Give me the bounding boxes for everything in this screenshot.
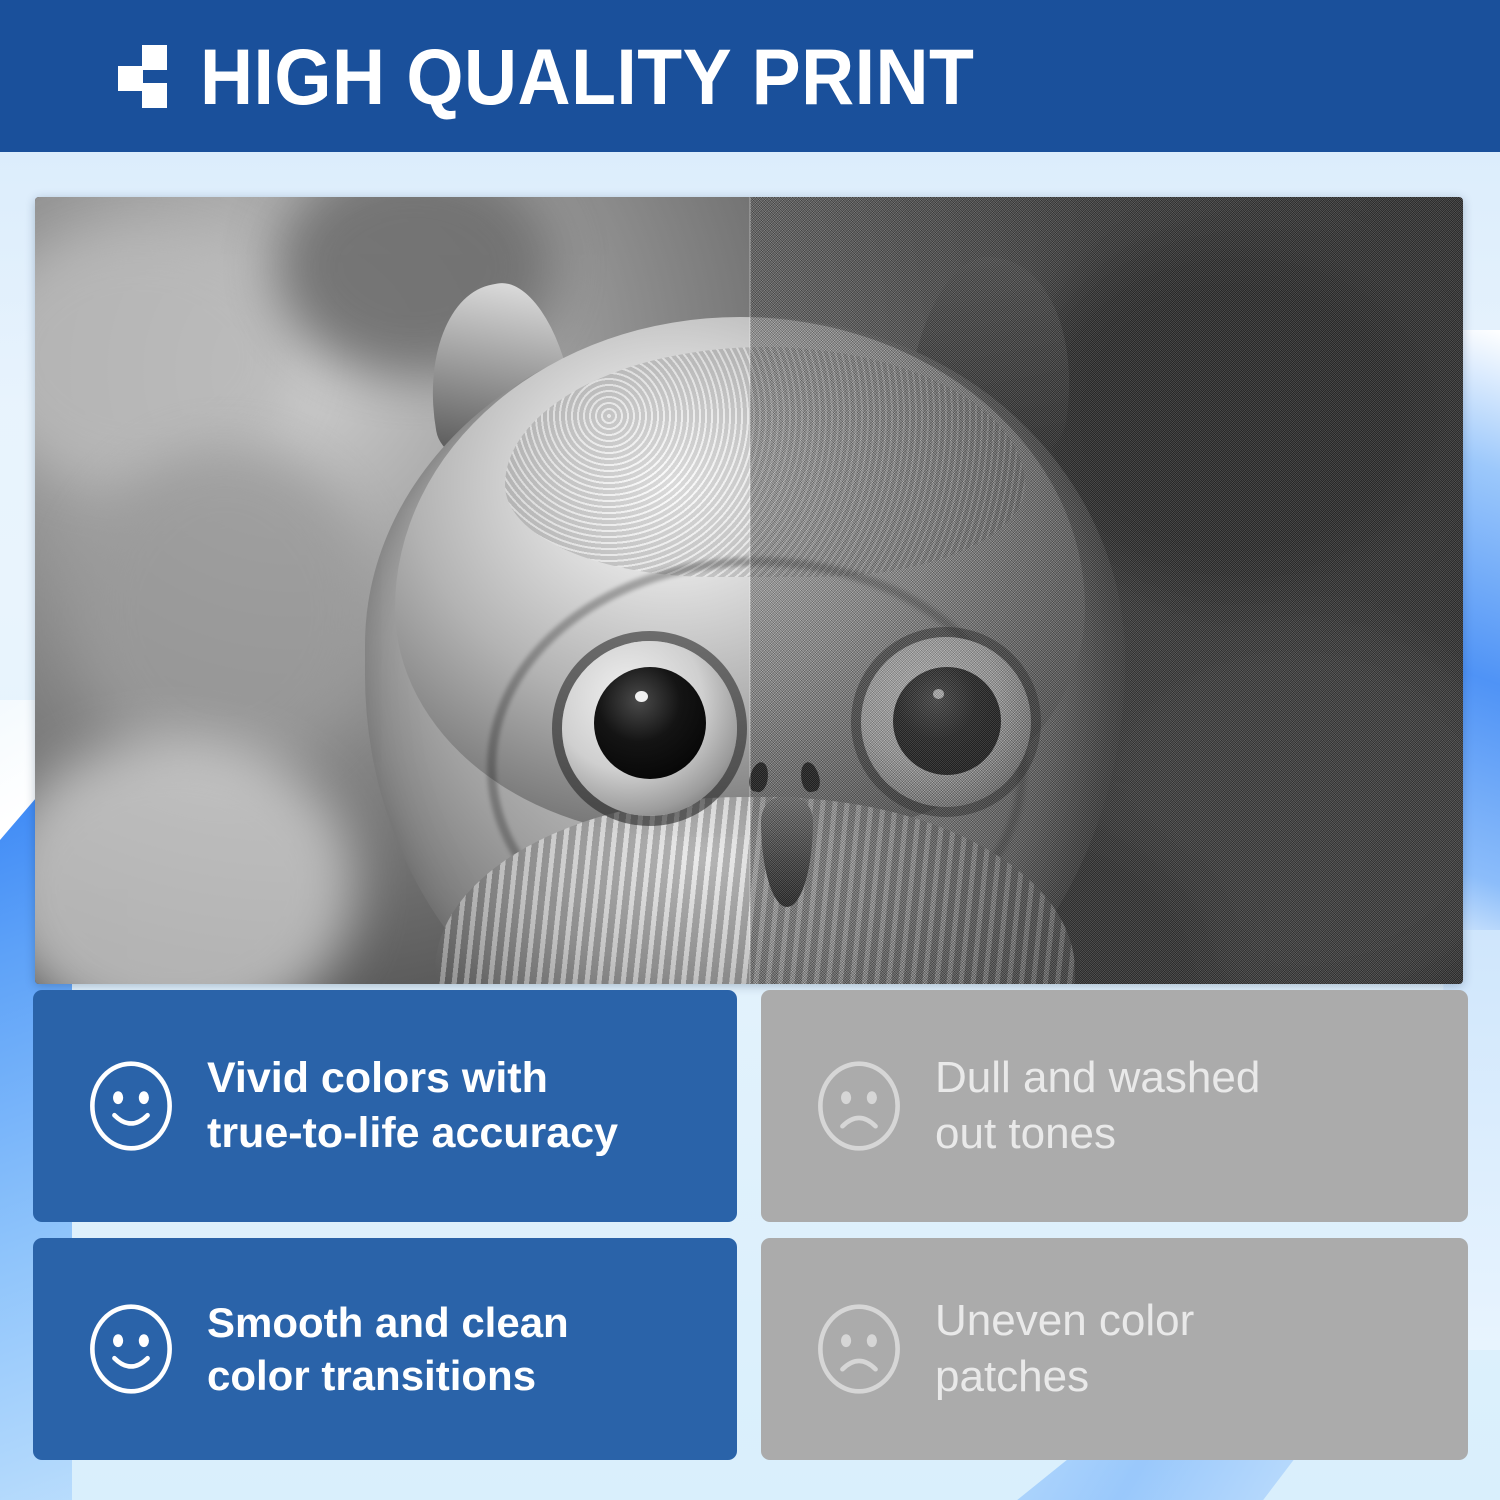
feature-line: Smooth and clean xyxy=(207,1296,569,1349)
feature-text-good-2: Smooth and clean color transitions xyxy=(207,1296,569,1403)
feature-text-good-1: Vivid colors with true-to-life accuracy xyxy=(207,1051,618,1160)
sad-face-icon xyxy=(813,1060,905,1152)
comparison-photo-left-half xyxy=(35,197,750,984)
owl-scene-sharp xyxy=(35,197,750,984)
feature-line: Uneven color xyxy=(935,1293,1194,1349)
logo-squares-icon xyxy=(118,45,174,107)
header-banner: HIGH QUALITY PRINT xyxy=(0,0,1500,152)
feature-line: color transitions xyxy=(207,1349,569,1402)
feature-box-good-2: Smooth and clean color transitions xyxy=(33,1238,737,1460)
feature-text-bad-2: Uneven color patches xyxy=(935,1293,1194,1405)
feature-line: true-to-life accuracy xyxy=(207,1106,618,1161)
product-infographic-page: HIGH QUALITY PRINT xyxy=(0,0,1500,1500)
sad-face-icon xyxy=(813,1303,905,1395)
feature-box-bad-1: Dull and washed out tones xyxy=(761,990,1468,1222)
smiley-face-icon xyxy=(85,1303,177,1395)
comparison-photo xyxy=(35,197,1463,984)
feature-line: patches xyxy=(935,1349,1194,1405)
feature-line: Vivid colors with xyxy=(207,1051,618,1106)
feature-text-bad-1: Dull and washed out tones xyxy=(935,1050,1260,1162)
noise-overlay-secondary xyxy=(750,197,1463,984)
page-title: HIGH QUALITY PRINT xyxy=(200,37,974,116)
feature-box-bad-2: Uneven color patches xyxy=(761,1238,1468,1460)
comparison-split-line xyxy=(749,197,751,984)
comparison-photo-right-half xyxy=(750,197,1463,984)
feature-line: out tones xyxy=(935,1106,1260,1162)
smiley-face-icon xyxy=(85,1060,177,1152)
feature-box-good-1: Vivid colors with true-to-life accuracy xyxy=(33,990,737,1222)
feature-line: Dull and washed xyxy=(935,1050,1260,1106)
